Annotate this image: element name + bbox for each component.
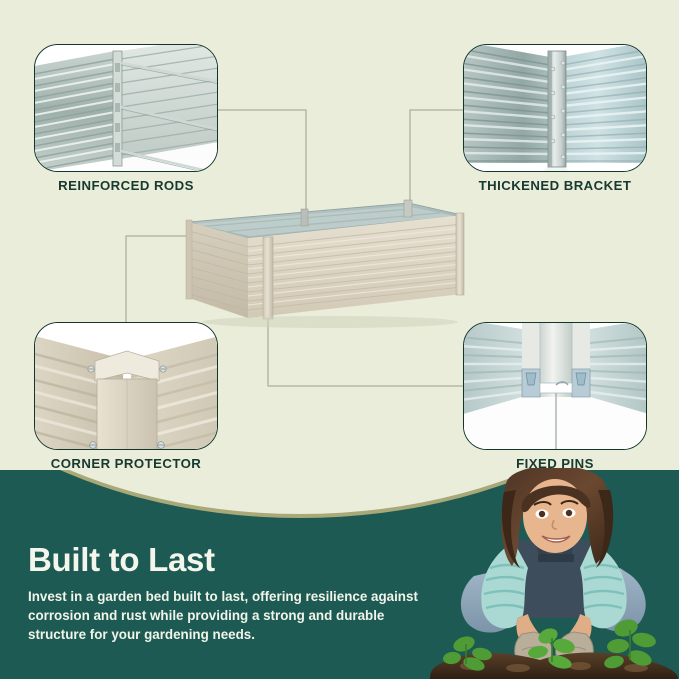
feature-diagram-area: REINFORCED RODS [0, 0, 679, 500]
feature-card-thickened-bracket[interactable]: THICKENED BRACKET [463, 44, 647, 172]
banner-body: Invest in a garden bed built to last, of… [28, 587, 428, 644]
fixed-pins-image-frame [463, 322, 647, 450]
corrugated-panel-with-rods-icon [35, 45, 218, 172]
corner-cap-icon [35, 323, 218, 450]
corner-protector-image-frame [34, 322, 218, 450]
thickened-bracket-image-frame [463, 44, 647, 172]
fixed-pin-bracket-icon [464, 323, 647, 450]
banner-title: Built to Last [28, 543, 428, 576]
banner-text-block: Built to Last Invest in a garden bed bui… [28, 543, 428, 644]
feature-label-corner-protector: CORNER PROTECTOR [34, 456, 218, 471]
feature-card-fixed-pins[interactable]: FIXED PINS [463, 322, 647, 450]
infographic-root: REINFORCED RODS [0, 0, 679, 679]
reinforced-rods-image-frame [34, 44, 218, 172]
corner-bracket-icon [464, 45, 647, 172]
feature-card-reinforced-rods[interactable]: REINFORCED RODS [34, 44, 218, 172]
feature-label-reinforced-rods: REINFORCED RODS [34, 178, 218, 193]
feature-label-thickened-bracket: THICKENED BRACKET [463, 178, 647, 193]
feature-card-corner-protector[interactable]: CORNER PROTECTOR [34, 322, 218, 450]
woman-planting-photo [430, 468, 679, 679]
